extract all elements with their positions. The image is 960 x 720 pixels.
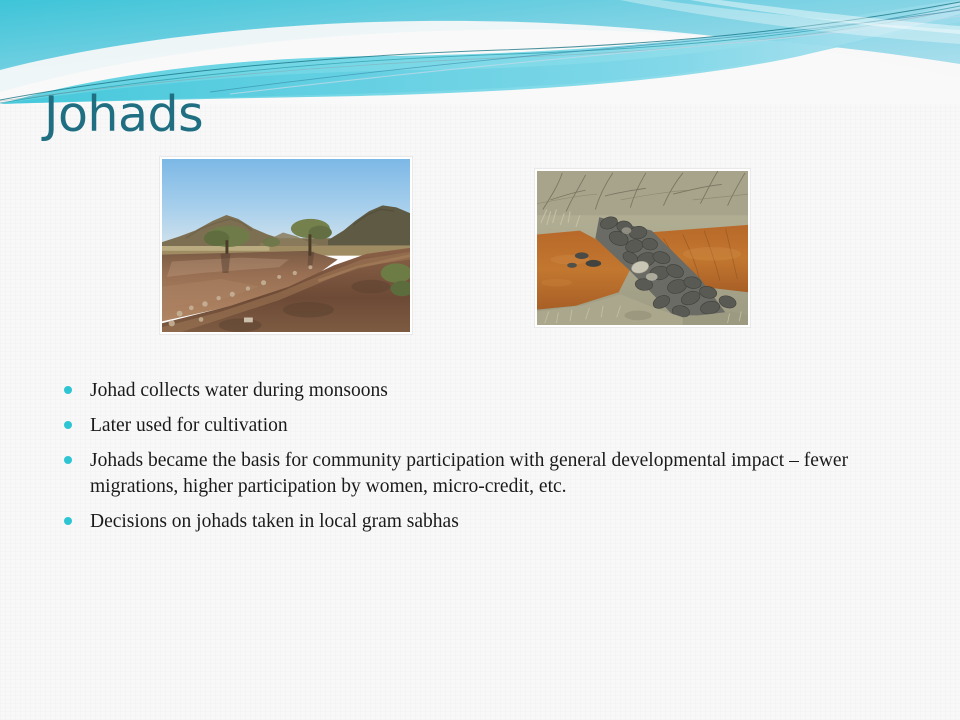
photo-inner-right (537, 171, 748, 325)
bullet-dot-icon (64, 421, 72, 429)
bullet-text: Johad collects water during monsoons (90, 380, 388, 401)
bullet-text: Later used for cultivation (90, 415, 288, 436)
photo-inner-left (162, 159, 410, 332)
bullet-dot-icon (64, 456, 72, 464)
bullet-text: Decisions on johads taken in local gram … (90, 511, 459, 532)
bullet-dot-icon (64, 386, 72, 394)
stone-check-dam-photo (534, 168, 751, 328)
bullet-item: Later used for cultivation (56, 413, 856, 439)
bullet-list: Johad collects water during monsoons Lat… (56, 378, 856, 544)
bullet-dot-icon (64, 517, 72, 525)
slide-title: Johads (44, 88, 203, 142)
presentation-slide: Johads (0, 0, 960, 720)
bullet-item: Decisions on johads taken in local gram … (56, 509, 856, 535)
bullet-item: Johads became the basis for community pa… (56, 448, 856, 500)
johad-reservoir-photo (159, 156, 413, 335)
bullet-item: Johad collects water during monsoons (56, 378, 856, 404)
bullet-text: Johads became the basis for community pa… (90, 450, 848, 497)
